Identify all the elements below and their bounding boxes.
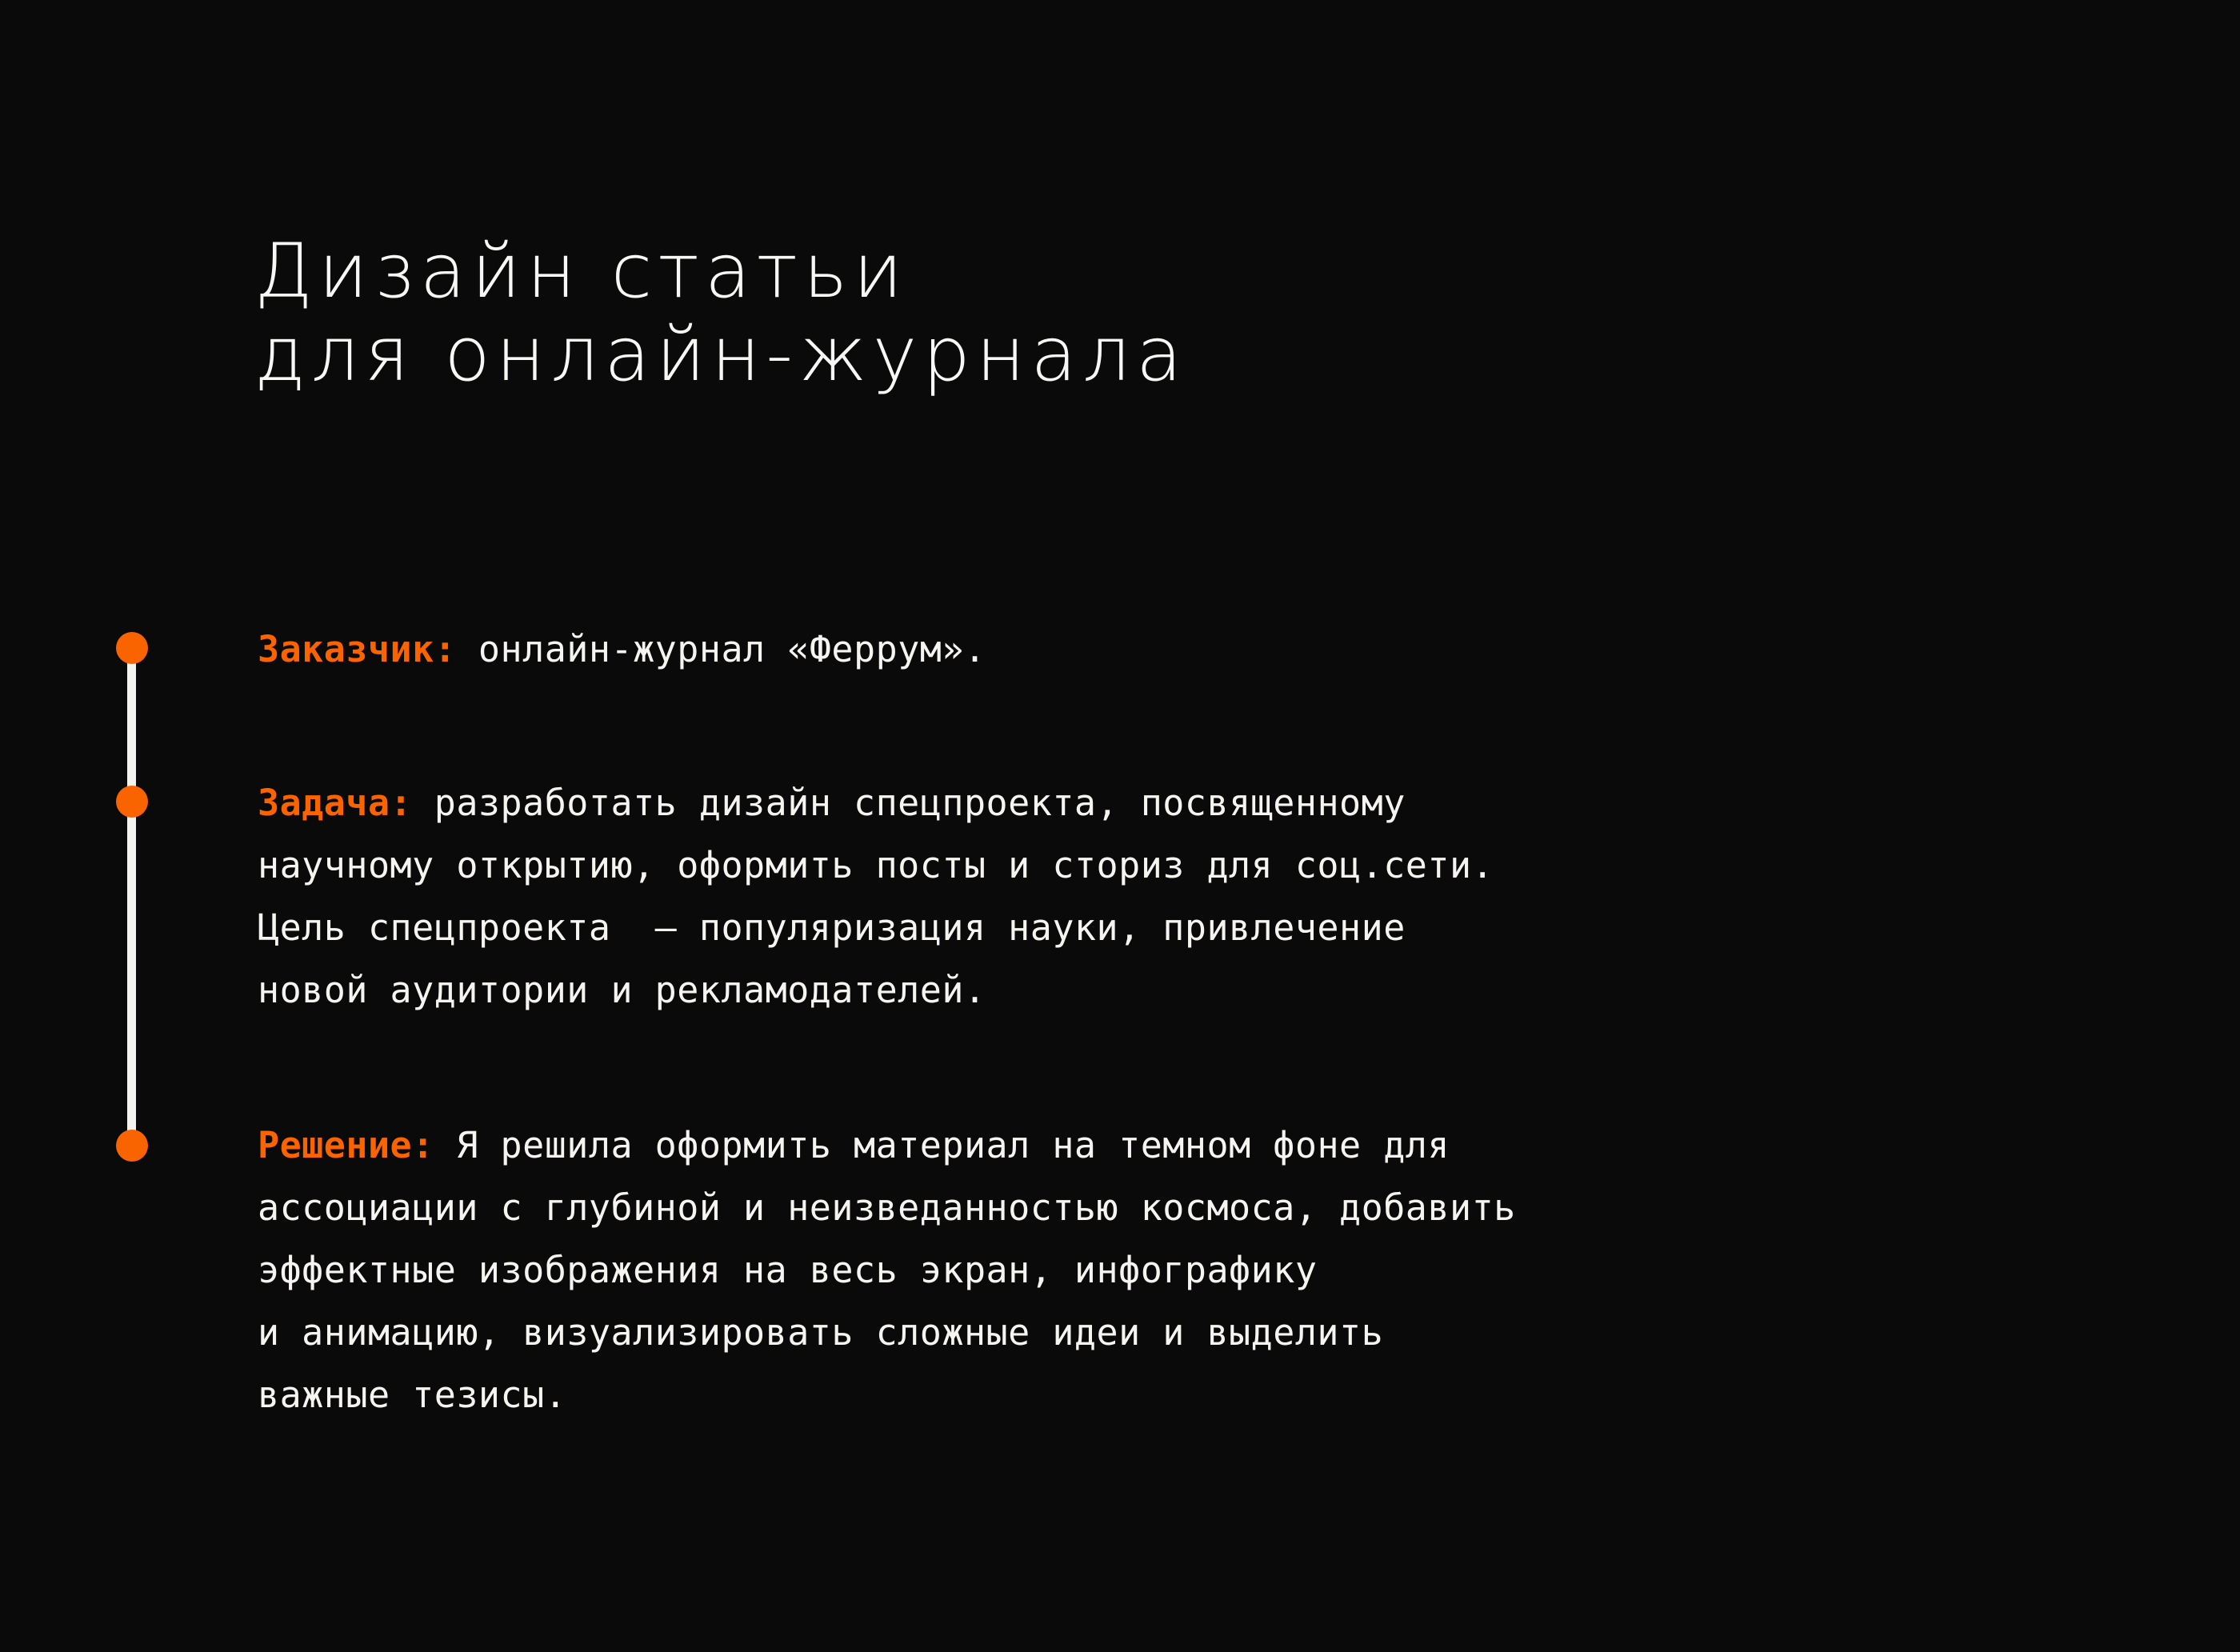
- paragraph-task: Задача: разработать дизайн спецпроекта, …: [258, 772, 2122, 1022]
- paragraph-text-client: онлайн-журнал «Феррум».: [456, 628, 986, 670]
- title-line-1: Дизайн статьи: [254, 230, 2014, 314]
- slide-root: Дизайн статьи для онлайн-журнала Заказчи…: [0, 0, 2240, 1652]
- paragraph-label-solution: Решение:: [258, 1124, 434, 1166]
- paragraph-label-task: Задача:: [258, 782, 412, 824]
- paragraph-client: Заказчик: онлайн-журнал «Феррум».: [258, 618, 2122, 681]
- timeline: [116, 624, 164, 1184]
- paragraph-text-task: разработать дизайн спецпроекта, посвящен…: [258, 782, 1494, 1011]
- paragraph-label-client: Заказчик:: [258, 628, 456, 670]
- timeline-connector-line: [127, 650, 136, 1147]
- timeline-dot-2: [116, 786, 148, 818]
- page-title: Дизайн статьи для онлайн-журнала: [254, 230, 2014, 397]
- timeline-dot-1: [116, 632, 148, 664]
- timeline-dot-3: [116, 1130, 148, 1162]
- title-line-2: для онлайн-журнала: [254, 314, 2014, 397]
- paragraph-solution: Решение: Я решила оформить материал на т…: [258, 1114, 2122, 1426]
- paragraph-text-solution: Я решила оформить материал на темном фон…: [258, 1124, 1516, 1416]
